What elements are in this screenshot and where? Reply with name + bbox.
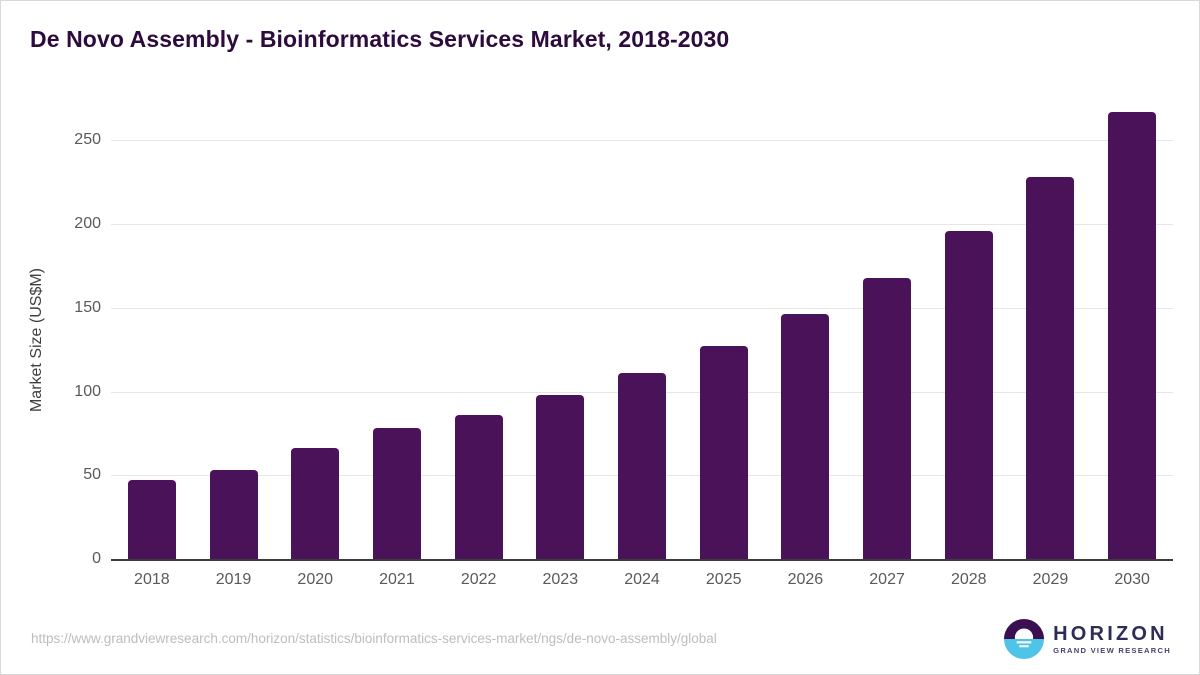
bar-2030[interactable] [1108, 112, 1156, 559]
y-tick-label: 150 [31, 299, 101, 317]
bar-2028[interactable] [945, 231, 993, 559]
bar-2021[interactable] [373, 428, 421, 559]
y-tick-label: 250 [31, 131, 101, 149]
y-tick-label: 0 [31, 550, 101, 568]
y-tick-label: 50 [31, 466, 101, 484]
horizon-logo: HORIZON GRAND VIEW RESEARCH [1004, 619, 1171, 659]
x-tick-label-2019: 2019 [194, 571, 274, 589]
x-tick-label-2027: 2027 [847, 571, 927, 589]
bar-2027[interactable] [863, 278, 911, 559]
x-tick-label-2023: 2023 [520, 571, 600, 589]
logo-tagline: GRAND VIEW RESEARCH [1053, 647, 1171, 655]
y-tick-label: 200 [31, 215, 101, 233]
x-tick-label-2021: 2021 [357, 571, 437, 589]
x-tick-label-2030: 2030 [1092, 571, 1172, 589]
bar-series [111, 111, 1173, 559]
bar-2024[interactable] [618, 373, 666, 559]
x-tick-label-2024: 2024 [602, 571, 682, 589]
horizon-logo-text: HORIZON GRAND VIEW RESEARCH [1053, 624, 1171, 655]
x-tick-label-2018: 2018 [112, 571, 192, 589]
x-tick-label-2022: 2022 [439, 571, 519, 589]
bar-2026[interactable] [781, 314, 829, 559]
bar-2020[interactable] [291, 448, 339, 559]
x-tick-label-2029: 2029 [1010, 571, 1090, 589]
y-axis-tick-labels: 050100150200250 [21, 1, 101, 675]
bar-2025[interactable] [700, 346, 748, 559]
x-tick-label-2026: 2026 [765, 571, 845, 589]
x-axis-tick-labels: 2018201920202021202220232024202520262027… [111, 571, 1173, 597]
chart-page: De Novo Assembly - Bioinformatics Servic… [0, 0, 1200, 675]
bar-2022[interactable] [455, 415, 503, 559]
bar-2019[interactable] [210, 470, 258, 559]
bar-2029[interactable] [1026, 177, 1074, 559]
bar-2018[interactable] [128, 480, 176, 559]
x-tick-label-2028: 2028 [929, 571, 1009, 589]
horizon-logo-icon [1004, 619, 1044, 659]
x-axis-line [111, 559, 1173, 561]
source-url[interactable]: https://www.grandviewresearch.com/horizo… [31, 631, 717, 646]
x-tick-label-2025: 2025 [684, 571, 764, 589]
y-tick-label: 100 [31, 383, 101, 401]
page-title: De Novo Assembly - Bioinformatics Servic… [30, 26, 729, 53]
logo-wordmark: HORIZON [1053, 624, 1171, 644]
x-tick-label-2020: 2020 [275, 571, 355, 589]
bar-2023[interactable] [536, 395, 584, 559]
